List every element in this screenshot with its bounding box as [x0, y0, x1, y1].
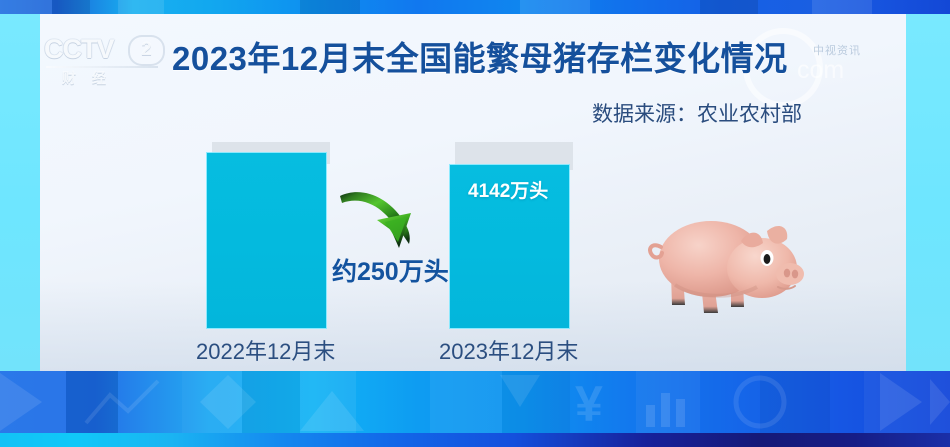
band-pattern-icons: ¥ — [0, 371, 950, 433]
page-title: 2023年12月末全国能繁母猪存栏变化情况 — [172, 32, 788, 80]
bar-label-2023: 2023年12月末 — [439, 334, 578, 366]
bar-label-2022: 2022年12月末 — [196, 334, 335, 366]
decrease-arrow-icon — [337, 182, 447, 262]
right-cyan-rail — [906, 14, 950, 371]
svg-text:¥: ¥ — [575, 376, 603, 432]
cctv-channel-logo: CCTV 2 财经 — [44, 34, 166, 86]
band-foot-strip — [0, 433, 950, 447]
bar-value-2023: 4142万头 — [468, 176, 548, 203]
bottom-decor-band: ¥ — [0, 371, 950, 447]
top-accent-strip — [0, 0, 950, 14]
bar-2022 — [207, 153, 326, 328]
cctv-channel-name: 财经 — [62, 68, 158, 88]
news-graphic: CCTV 2 财经 中视资讯 com 2023年12月末全国能繁母猪存栏变化情况… — [0, 0, 950, 447]
pig-illustration-icon — [645, 205, 835, 330]
decrease-amount-label: 约250万头 — [332, 252, 449, 288]
left-cyan-rail — [0, 14, 40, 371]
cctv-channel-number: 2 — [128, 35, 165, 66]
cctv-wordmark: CCTV — [44, 34, 114, 65]
data-source-note: 数据来源：农业农村部 — [592, 98, 802, 128]
